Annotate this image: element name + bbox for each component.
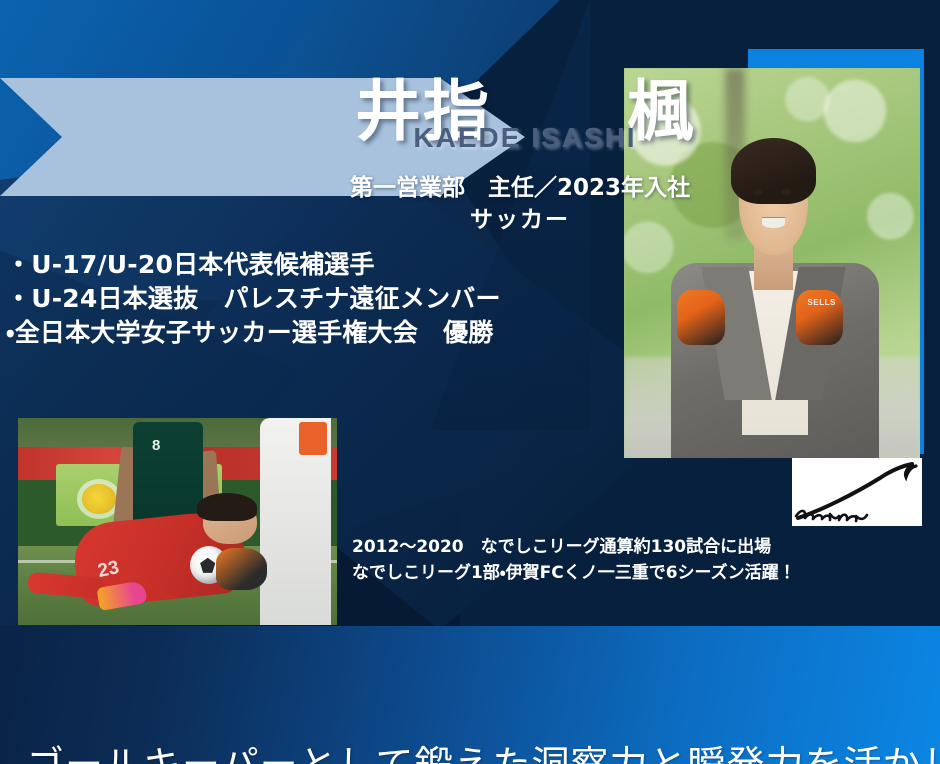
sport-label: サッカー — [0, 200, 940, 234]
action-photo-ad-logo — [82, 484, 116, 514]
name-romaji: KAEDE ISASHI — [0, 122, 940, 154]
tagline-band: ゴールキーパーとして鍛えた洞察力と瞬発力を活かして お客様の課題を守り抜き、徹底… — [0, 626, 940, 764]
tagline-line-1: ゴールキーパーとして鍛えた洞察力と瞬発力を活かして — [0, 740, 940, 764]
career-note: 2012〜2020 なでしこリーグ通算約130試合に出場 なでしこリーグ1部・伊… — [352, 534, 892, 587]
career-line-2: なでしこリーグ1部・伊賀FCくノ一三重で6シーズン活躍！ — [352, 560, 892, 586]
defender-number: 8 — [152, 437, 160, 454]
list-item: ・全日本大学女子サッカー選手権大会 優勝 — [6, 316, 606, 350]
achievement-list: ・U-17/U-20日本代表候補選手 ・U-24日本選抜 パレスチナ遠征メンバー… — [6, 248, 606, 350]
attacker-kit-accent — [299, 422, 328, 455]
signature-box — [792, 458, 922, 526]
profile-slide: SELLS 井指 楓 KAEDE ISASHI 第一営業部 主任／2023年入社… — [0, 0, 940, 764]
department-subtitle: 第一営業部 主任／2023年入社 — [0, 168, 940, 202]
glove-brand-label: SELLS — [808, 298, 836, 307]
goalkeeper-glove-left — [677, 290, 724, 345]
list-item: ・U-17/U-20日本代表候補選手 — [6, 248, 606, 282]
career-line-1: 2012〜2020 なでしこリーグ通算約130試合に出場 — [352, 534, 892, 560]
signature-icon — [792, 458, 922, 526]
goalkeeper-glove-catching — [216, 548, 267, 589]
list-item: ・U-24日本選抜 パレスチナ遠征メンバー — [6, 282, 606, 316]
goalkeeper-hair — [197, 493, 258, 522]
soccer-action-photo: 8 23 — [18, 418, 337, 625]
tagline: ゴールキーパーとして鍛えた洞察力と瞬発力を活かして お客様の課題を守り抜き、徹底… — [0, 640, 940, 764]
